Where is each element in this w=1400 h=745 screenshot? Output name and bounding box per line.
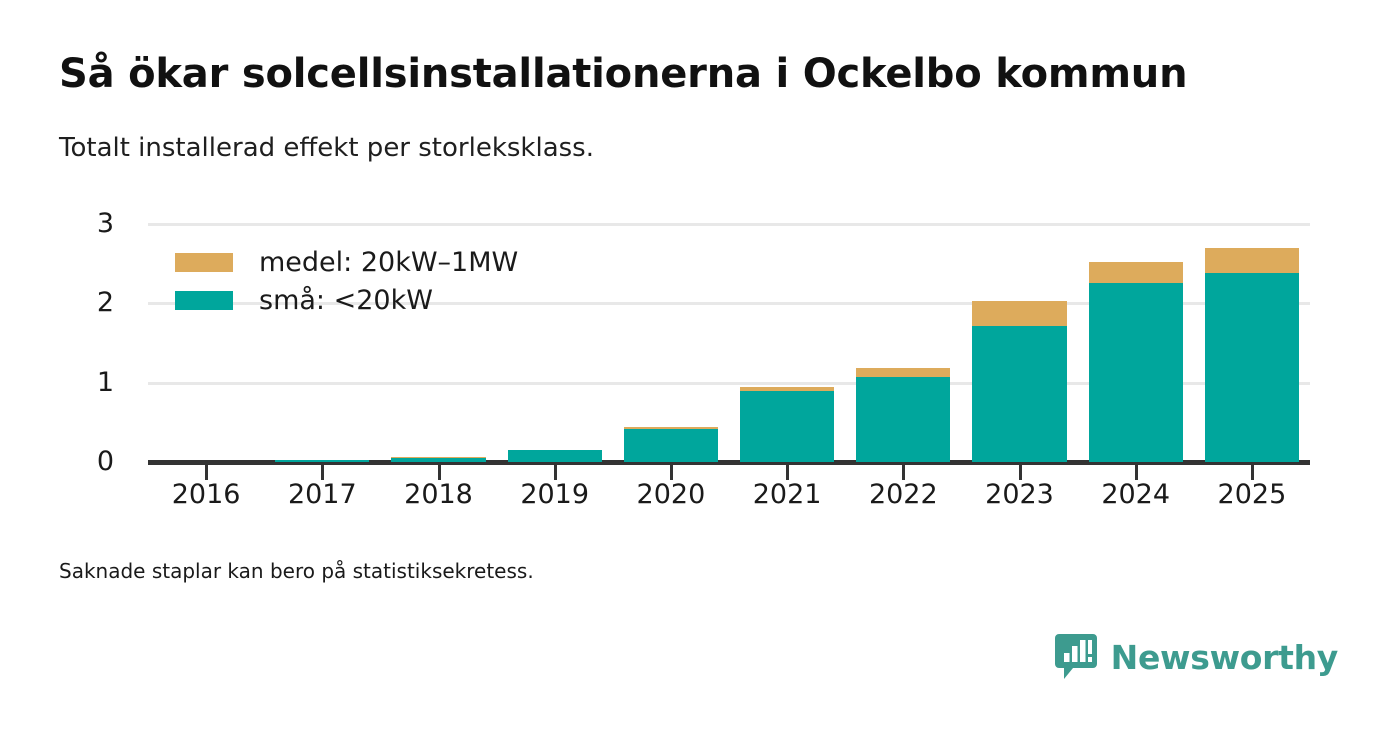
x-axis-tick bbox=[670, 465, 673, 480]
x-axis-tick bbox=[786, 465, 789, 480]
bar-segment-small[interactable] bbox=[856, 377, 950, 462]
chart-legend: medel: 20kW–1MW små: <20kW bbox=[175, 243, 518, 319]
bar-2022[interactable] bbox=[856, 368, 950, 462]
x-axis-tick-label: 2017 bbox=[262, 481, 382, 508]
bar-segment-medium[interactable] bbox=[856, 368, 950, 377]
x-axis-tick-label: 2019 bbox=[495, 481, 615, 508]
x-axis-tick bbox=[554, 465, 557, 480]
bar-segment-medium[interactable] bbox=[624, 427, 718, 429]
legend-item-small[interactable]: små: <20kW bbox=[175, 281, 518, 319]
bar-segment-small[interactable] bbox=[972, 326, 1066, 462]
x-axis-tick bbox=[321, 465, 324, 480]
x-axis-tick-label: 2021 bbox=[727, 481, 847, 508]
x-axis-tick bbox=[1251, 465, 1254, 480]
bar-segment-medium[interactable] bbox=[972, 301, 1066, 326]
bar-chart-speech-bubble-icon bbox=[1055, 634, 1097, 680]
brand-name: Newsworthy bbox=[1111, 641, 1338, 674]
bar-2021[interactable] bbox=[740, 387, 834, 462]
legend-label-small: små: <20kW bbox=[259, 287, 433, 314]
legend-label-medium: medel: 20kW–1MW bbox=[259, 249, 518, 276]
bar-2019[interactable] bbox=[508, 450, 602, 462]
x-axis-tick-label: 2018 bbox=[379, 481, 499, 508]
x-axis-tick-label: 2020 bbox=[611, 481, 731, 508]
x-axis-tick-label: 2016 bbox=[146, 481, 266, 508]
x-axis-tick bbox=[1135, 465, 1138, 480]
brand-logo: Newsworthy bbox=[1055, 634, 1338, 680]
x-axis-tick-label: 2025 bbox=[1192, 481, 1312, 508]
chart-footnote: Saknade staplar kan bero på statistiksek… bbox=[59, 558, 534, 584]
bar-segment-small[interactable] bbox=[1205, 273, 1299, 462]
x-axis-tick bbox=[902, 465, 905, 480]
x-axis-tick-label: 2024 bbox=[1076, 481, 1196, 508]
bar-segment-medium[interactable] bbox=[1205, 248, 1299, 273]
bar-2018[interactable] bbox=[391, 457, 485, 462]
bar-chart: 0123 20162017201820192020202120222023202… bbox=[0, 0, 1400, 560]
bar-segment-medium[interactable] bbox=[740, 387, 834, 392]
bar-segment-small[interactable] bbox=[740, 391, 834, 462]
legend-item-medium[interactable]: medel: 20kW–1MW bbox=[175, 243, 518, 281]
bar-segment-medium[interactable] bbox=[1089, 262, 1183, 283]
x-axis-tick-label: 2023 bbox=[960, 481, 1080, 508]
legend-swatch-small-icon bbox=[175, 291, 233, 310]
bar-segment-small[interactable] bbox=[275, 460, 369, 462]
legend-swatch-medium-icon bbox=[175, 253, 233, 272]
bar-2017[interactable] bbox=[275, 460, 369, 462]
bar-segment-small[interactable] bbox=[391, 458, 485, 462]
bar-2025[interactable] bbox=[1205, 248, 1299, 462]
bar-segment-medium[interactable] bbox=[391, 457, 485, 458]
bars-layer bbox=[0, 0, 1400, 462]
bar-segment-small[interactable] bbox=[508, 450, 602, 462]
x-axis-tick bbox=[205, 465, 208, 480]
bar-2020[interactable] bbox=[624, 427, 718, 462]
x-axis-tick bbox=[1019, 465, 1022, 480]
bar-2023[interactable] bbox=[972, 301, 1066, 462]
bar-segment-small[interactable] bbox=[1089, 283, 1183, 462]
bar-segment-small[interactable] bbox=[624, 429, 718, 462]
x-axis-tick-label: 2022 bbox=[843, 481, 963, 508]
x-axis-tick bbox=[438, 465, 441, 480]
bar-2024[interactable] bbox=[1089, 262, 1183, 462]
